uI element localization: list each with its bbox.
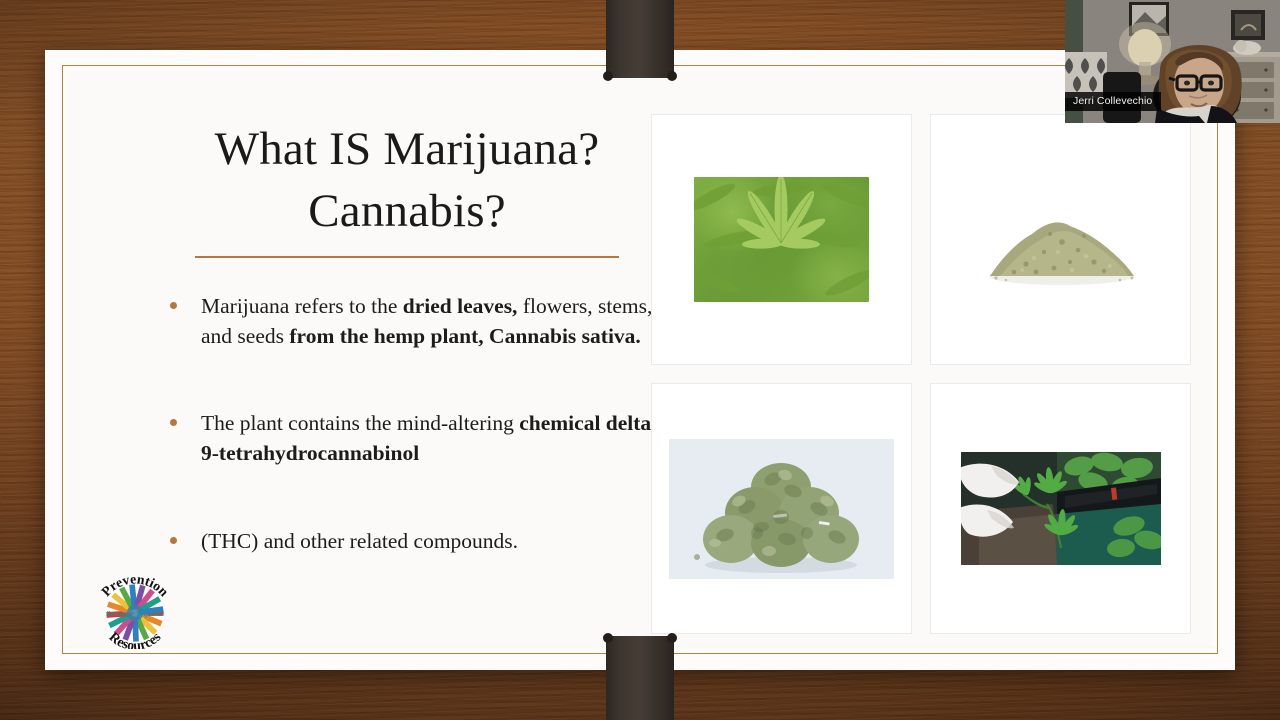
cannabis-buds-photo (669, 439, 894, 579)
slide-content-area: What IS Marijuana? Cannabis? Marijuana r… (67, 70, 1213, 649)
bullet-item: The plant contains the mind-altering che… (152, 409, 662, 468)
webcam-participant-name: Jerri Collevechio (1065, 92, 1161, 111)
bullet-text: (THC) and other related compounds. (201, 529, 518, 553)
webcam-video-tile[interactable]: Jerri Collevechio (1065, 0, 1280, 123)
photo-frame-buds (651, 383, 912, 634)
clip-nub-left (603, 71, 613, 81)
prevention-resources-logo: Prevention Resources Stronger Together (89, 567, 181, 649)
photo-frame-leaves (651, 114, 912, 365)
logo-center-text: Stronger Together (106, 609, 165, 618)
clip-nub-right (667, 71, 677, 81)
slide-title-line-1: What IS Marijuana? (152, 118, 662, 180)
ground-marijuana-photo (966, 172, 1156, 307)
gloved-hand-seedling-photo (961, 452, 1161, 565)
photo-frame-seedling (930, 383, 1191, 634)
binder-clip-top (606, 0, 674, 78)
slide-text-column: What IS Marijuana? Cannabis? Marijuana r… (152, 118, 662, 572)
cannabis-leaves-photo (694, 177, 869, 302)
title-underline-rule (195, 256, 619, 258)
binder-clip-bottom (606, 636, 674, 720)
bullet-text: The plant contains the mind-altering che… (201, 411, 658, 465)
bullet-dot-icon (170, 537, 177, 544)
image-grid (651, 114, 1191, 634)
bullet-text: Marijuana refers to the dried leaves, fl… (201, 294, 652, 348)
bullet-item: Marijuana refers to the dried leaves, fl… (152, 292, 662, 351)
bullet-item: (THC) and other related compounds. (152, 527, 662, 557)
photo-frame-ground (930, 114, 1191, 365)
presentation-stage: What IS Marijuana? Cannabis? Marijuana r… (0, 0, 1280, 720)
bullet-dot-icon (170, 302, 177, 309)
clip-nub-right (667, 633, 677, 643)
clip-nub-left (603, 633, 613, 643)
presentation-slide: What IS Marijuana? Cannabis? Marijuana r… (45, 50, 1235, 670)
bullet-list: Marijuana refers to the dried leaves, fl… (152, 292, 662, 556)
slide-title: What IS Marijuana? Cannabis? (152, 118, 662, 242)
bullet-dot-icon (170, 419, 177, 426)
slide-title-line-2: Cannabis? (152, 180, 662, 242)
